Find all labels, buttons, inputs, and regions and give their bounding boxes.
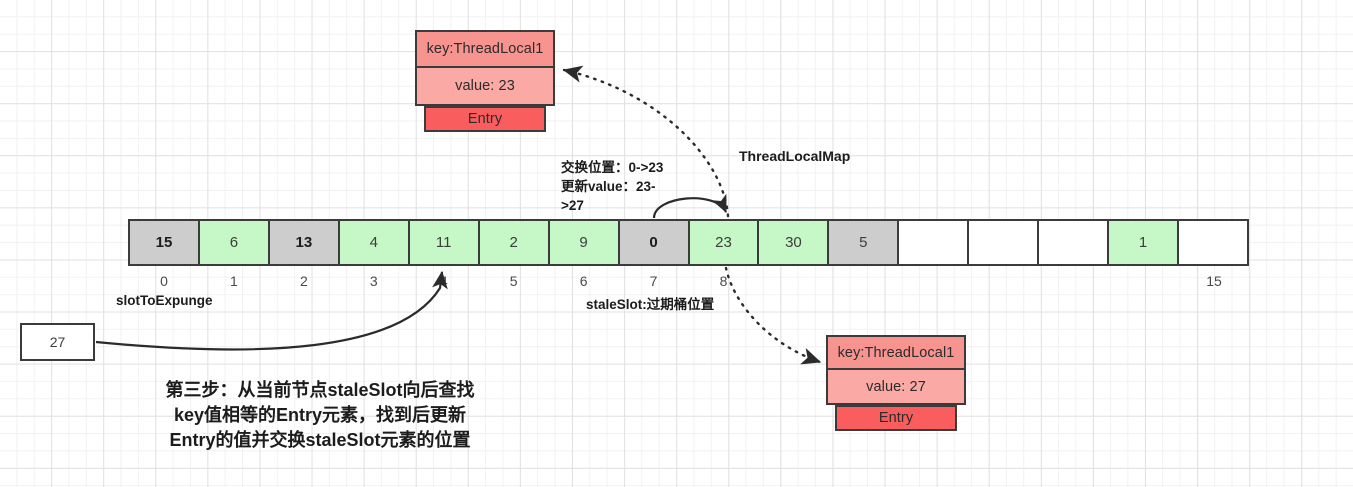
entry-bottom-tag: Entry bbox=[835, 405, 957, 431]
array-index-15: 15 bbox=[1179, 273, 1249, 289]
entry-bottom-key-row: key:ThreadLocal1 bbox=[826, 335, 966, 370]
entry-top-key-row: key:ThreadLocal1 bbox=[415, 30, 555, 68]
array-index-5: 5 bbox=[478, 273, 550, 289]
array-cell-10[interactable]: 5 bbox=[827, 219, 899, 266]
array-cell-value-0: 15 bbox=[156, 234, 173, 251]
swap-note: 交换位置：0->23 更新value：23- >27 bbox=[561, 158, 706, 215]
array-index-4: 4 bbox=[408, 273, 480, 289]
entry-top-value-row: value: 23 bbox=[415, 68, 555, 106]
step-caption-line2: key值相等的Entry元素，找到后更新 bbox=[110, 403, 530, 428]
array-cell-15[interactable] bbox=[1177, 219, 1249, 266]
entry-bottom-value-label: value: 27 bbox=[866, 379, 926, 395]
array-cell-6[interactable]: 9 bbox=[548, 219, 620, 266]
array-cell-1[interactable]: 6 bbox=[198, 219, 270, 266]
stale-slot-label: staleSlot:过期桶位置 bbox=[586, 293, 714, 313]
entry-bottom-tag-label: Entry bbox=[879, 410, 913, 426]
array-cell-12[interactable] bbox=[967, 219, 1039, 266]
array-cell-7[interactable]: 0 bbox=[618, 219, 690, 266]
pending-value-label: 27 bbox=[50, 334, 66, 350]
entry-top-value-label: value: 23 bbox=[455, 78, 515, 94]
swap-note-line1: 交换位置：0->23 bbox=[561, 158, 706, 177]
array-cell-4[interactable]: 11 bbox=[408, 219, 480, 266]
array-index-2: 2 bbox=[268, 273, 340, 289]
threadlocalmap-label: ThreadLocalMap bbox=[739, 148, 850, 164]
array-cell-value-9: 30 bbox=[785, 234, 802, 251]
entry-box-top: key:ThreadLocal1 value: 23 Entry bbox=[415, 30, 555, 132]
entry-top-key-label: key:ThreadLocal1 bbox=[427, 41, 544, 57]
array-cell-value-10: 5 bbox=[859, 234, 867, 251]
array-cell-value-6: 9 bbox=[579, 234, 587, 251]
array-cell-9[interactable]: 30 bbox=[757, 219, 829, 266]
array-cell-value-7: 0 bbox=[649, 234, 657, 251]
array-cell-2[interactable]: 13 bbox=[268, 219, 340, 266]
array-cell-5[interactable]: 2 bbox=[478, 219, 550, 266]
array-cell-11[interactable] bbox=[897, 219, 969, 266]
threadlocalmap-array: 15613411290233051 bbox=[128, 219, 1249, 266]
swap-note-line2: 更新value：23- bbox=[561, 177, 706, 196]
step-caption: 第三步：从当前节点staleSlot向后查找 key值相等的Entry元素，找到… bbox=[110, 378, 530, 453]
array-cell-value-5: 2 bbox=[509, 234, 517, 251]
array-index-3: 3 bbox=[338, 273, 410, 289]
array-cell-value-14: 1 bbox=[1139, 234, 1147, 251]
array-cell-14[interactable]: 1 bbox=[1107, 219, 1179, 266]
array-index-8: 8 bbox=[688, 273, 760, 289]
array-cell-value-3: 4 bbox=[370, 234, 378, 251]
array-cell-value-4: 11 bbox=[436, 234, 452, 251]
array-index-6: 6 bbox=[548, 273, 620, 289]
swap-note-line3: >27 bbox=[561, 196, 706, 215]
entry-top-tag-label: Entry bbox=[468, 111, 502, 127]
entry-top-tag: Entry bbox=[424, 106, 546, 132]
step-caption-line3: Entry的值并交换staleSlot元素的位置 bbox=[110, 428, 530, 453]
entry-bottom-value-row: value: 27 bbox=[826, 370, 966, 405]
array-cell-3[interactable]: 4 bbox=[338, 219, 410, 266]
diagram-canvas: key:ThreadLocal1 value: 23 Entry key:Thr… bbox=[0, 0, 1353, 487]
array-cell-value-1: 6 bbox=[230, 234, 238, 251]
array-cell-value-2: 13 bbox=[296, 234, 313, 251]
step-caption-line1: 第三步：从当前节点staleSlot向后查找 bbox=[110, 378, 530, 403]
entry-bottom-key-label: key:ThreadLocal1 bbox=[838, 345, 955, 361]
array-cell-value-8: 23 bbox=[715, 234, 732, 251]
array-index-7: 7 bbox=[618, 273, 690, 289]
pending-value-box: 27 bbox=[20, 323, 95, 361]
slot-to-expunge-label: slotToExpunge bbox=[116, 293, 213, 308]
array-index-0: 0 bbox=[128, 273, 200, 289]
array-index-1: 1 bbox=[198, 273, 270, 289]
array-cell-13[interactable] bbox=[1037, 219, 1109, 266]
array-cell-0[interactable]: 15 bbox=[128, 219, 200, 266]
entry-box-bottom: key:ThreadLocal1 value: 27 Entry bbox=[826, 335, 966, 431]
array-cell-8[interactable]: 23 bbox=[688, 219, 760, 266]
